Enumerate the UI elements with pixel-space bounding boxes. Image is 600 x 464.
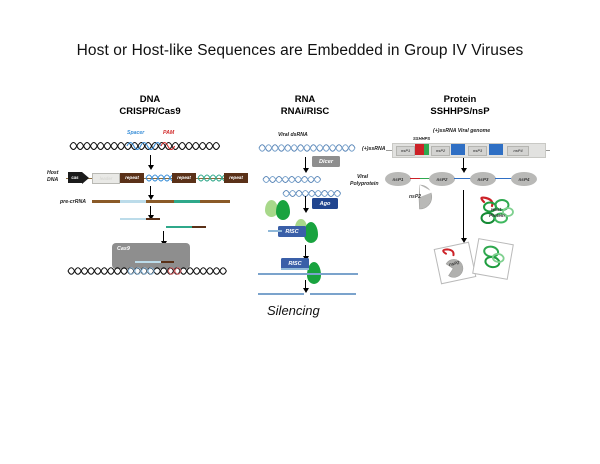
risc-label-1: RISC xyxy=(285,229,298,235)
crrna-1-repeat xyxy=(146,218,160,220)
viral-dsrna-label: Viral dsRNA xyxy=(278,132,308,138)
risc-box-1: RISC xyxy=(278,226,306,237)
ssrna-genome-title: (+)ssRNA Viral genome xyxy=(433,128,490,134)
spacer-wave-2 xyxy=(197,170,225,186)
column-header-rna-line2: RNAi/RISC xyxy=(250,106,360,118)
genome-blue-block-2 xyxy=(489,144,503,155)
host-dna-label-line1: Host xyxy=(47,170,59,176)
column-header-rna: RNA RNAi/RISC xyxy=(250,94,360,118)
host-protein-label-line1: Host xyxy=(491,207,501,212)
slide-canvas: Host or Host-like Sequences are Embedded… xyxy=(0,0,600,464)
column-header-protein-line2: SSHHPS/nsP xyxy=(405,106,515,118)
polyprotein-oval-nsp4: nsP4 xyxy=(511,172,537,186)
spacer-wave-1 xyxy=(145,170,173,186)
risc1-guide-strand xyxy=(268,230,282,232)
precrrna-spacer-2 xyxy=(174,200,200,203)
arrow-transcription xyxy=(150,186,151,195)
cleavage-product-fragment-right xyxy=(473,239,511,277)
genome-block-nsp4-label: nsP4 xyxy=(513,148,522,153)
cas-gene-label: cas xyxy=(71,175,78,180)
precrrna-repeat-2 xyxy=(146,200,174,203)
page-title: Host or Host-like Sequences are Embedded… xyxy=(0,42,600,60)
repeat-label-2: repeat xyxy=(177,175,191,180)
arrow-translation xyxy=(463,158,464,168)
ago-box: Ago xyxy=(312,198,338,209)
arrow-acquisition xyxy=(150,155,151,165)
polyprotein-oval-nsp2-label: nsP2 xyxy=(437,177,448,182)
genome-block-nsp4: nsP4 xyxy=(507,146,529,156)
arrow-cleavage-products xyxy=(463,190,464,238)
ago-label: Ago xyxy=(320,201,331,207)
leader-label: leader xyxy=(100,176,113,181)
polyprotein-oval-nsp3-label: nsP3 xyxy=(478,177,489,182)
target-dna-wave xyxy=(66,262,241,280)
arrow-assembly xyxy=(163,231,164,241)
crrna-2-spacer xyxy=(166,226,192,228)
repeat-label-3: repeat xyxy=(229,175,243,180)
dicer-label: Dicer xyxy=(319,159,333,165)
crrna-1-spacer xyxy=(120,218,146,220)
viral-dsrna-wave xyxy=(258,140,358,156)
precrrna-repeat-1 xyxy=(92,200,120,203)
polyprotein-oval-nsp3: nsP3 xyxy=(470,172,496,186)
arrow-processing xyxy=(150,206,151,215)
column-header-dna: DNA CRISPR/Cas9 xyxy=(95,94,205,118)
leader-block: leader xyxy=(92,173,120,184)
polyprotein-oval-nsp1-label: nsP1 xyxy=(393,177,404,182)
precrrna-repeat-3 xyxy=(200,200,230,203)
risc1-blob-green xyxy=(304,222,318,243)
column-header-dna-line2: CRISPR/Cas9 xyxy=(95,106,205,118)
arrow-ago-loading xyxy=(305,196,306,208)
column-header-protein-line1: Protein xyxy=(444,94,477,105)
genome-block-nsp2: nsP2 xyxy=(431,146,450,156)
polyprotein-label-line1: Viral xyxy=(357,174,368,180)
precrrna-spacer-1 xyxy=(120,200,146,203)
column-header-dna-line1: DNA xyxy=(140,94,161,105)
nsp2-protease-label: nsP2 xyxy=(409,194,421,200)
risc-label-2: RISC xyxy=(288,261,301,267)
arrow-cleavage xyxy=(305,280,306,288)
arrow-dicer-cleavage xyxy=(305,157,306,168)
sirna-wave-1 xyxy=(262,172,324,187)
polyprotein-linker-red xyxy=(410,178,420,179)
risc2-guide-strand xyxy=(281,268,309,270)
arrow-target-binding xyxy=(305,245,306,256)
host-protein-label-line2: Protein xyxy=(489,213,505,218)
repeat-block-1: repeat xyxy=(120,173,144,183)
repeat-block-3: repeat xyxy=(224,173,248,183)
host-dna-label-line2: DNA xyxy=(47,177,58,183)
sshhps-green-block xyxy=(424,144,429,155)
genome-blue-block-1 xyxy=(451,144,465,155)
repeat-label-1: repeat xyxy=(125,175,139,180)
target-mrna-strand xyxy=(258,273,358,275)
polyprotein-linker-blue-2 xyxy=(495,178,512,179)
repeat-block-2: repeat xyxy=(172,173,196,183)
genome-block-nsp2-label: nsP2 xyxy=(436,148,445,153)
genome-block-nsp3: nsP3 xyxy=(468,146,487,156)
phage-dna-wave xyxy=(68,136,233,154)
sshhps-red-block xyxy=(415,144,424,155)
silencing-label: Silencing xyxy=(267,303,320,318)
cas-gene-block: cas xyxy=(68,172,82,183)
cleaved-mrna-left xyxy=(258,293,304,295)
genome-block-nsp1-label: nsP1 xyxy=(401,148,410,153)
ssrna-row-label: (+)ssRNA xyxy=(362,146,386,152)
polyprotein-linker-blue-1 xyxy=(454,178,471,179)
column-header-protein: Protein SSHHPS/nsP xyxy=(405,94,515,118)
cas-gene-arrowhead xyxy=(82,172,89,184)
polyprotein-oval-nsp4-label: nsP4 xyxy=(519,177,530,182)
column-header-rna-line1: RNA xyxy=(295,94,316,105)
cleaved-mrna-right xyxy=(310,293,356,295)
pre-crrna-label: pre-crRNA xyxy=(60,199,86,205)
genome-block-nsp3-label: nsP3 xyxy=(473,148,482,153)
cas9-label: Cas9 xyxy=(117,246,130,252)
genome-block-nsp1: nsP1 xyxy=(396,146,415,156)
crrna-2-repeat xyxy=(192,226,206,228)
sshhps-label: SSHHPS xyxy=(413,136,430,141)
polyprotein-label-line2: Polyprotein xyxy=(350,181,379,187)
dicer-box: Dicer xyxy=(312,156,340,167)
ago-blob-green xyxy=(276,200,290,220)
